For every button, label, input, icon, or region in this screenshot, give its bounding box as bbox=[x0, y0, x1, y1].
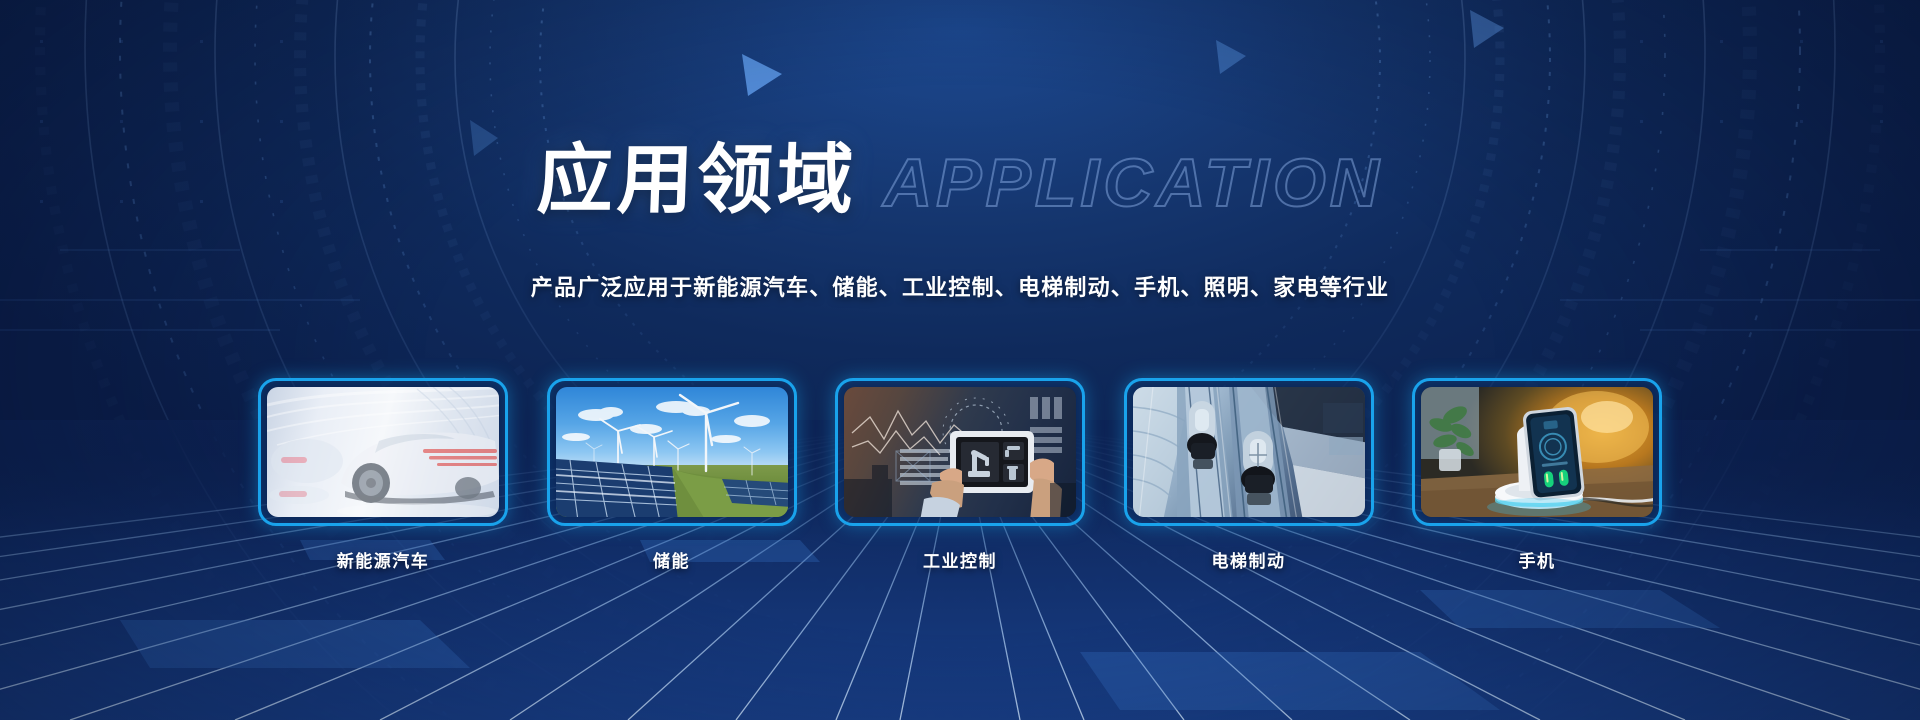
energy-storage-photo bbox=[556, 387, 788, 517]
card-label: 储能 bbox=[547, 547, 797, 572]
industrial-control-photo bbox=[844, 387, 1076, 517]
card-frame[interactable] bbox=[1124, 378, 1374, 526]
card-label: 电梯制动 bbox=[1124, 547, 1374, 572]
page-title-english: APPLICATION bbox=[883, 149, 1383, 217]
card-label: 手机 bbox=[1412, 547, 1662, 572]
page-title: 应用领域 bbox=[536, 142, 859, 218]
card-label: 新能源汽车 bbox=[258, 547, 508, 572]
card-frame[interactable] bbox=[1412, 378, 1662, 526]
card-frame[interactable] bbox=[547, 378, 797, 526]
application-card-mobile-phone[interactable]: 手机 bbox=[1412, 378, 1662, 572]
card-frame[interactable] bbox=[835, 378, 1085, 526]
card-label: 工业控制 bbox=[835, 547, 1085, 572]
title-row: 应用领域 APPLICATION bbox=[0, 142, 1920, 218]
elevator-brake-photo bbox=[1133, 387, 1365, 517]
application-card-industrial-control[interactable]: 工业控制 bbox=[835, 378, 1085, 572]
application-card-new-energy-vehicle[interactable]: 新能源汽车 bbox=[258, 378, 508, 572]
application-card-energy-storage[interactable]: 储能 bbox=[547, 378, 797, 572]
application-card-elevator-brake[interactable]: 电梯制动 bbox=[1124, 378, 1374, 572]
banner-subtitle: 产品广泛应用于新能源汽车、储能、工业控制、电梯制动、手机、照明、家电等行业 bbox=[0, 270, 1920, 302]
application-card-list: 新能源汽车 bbox=[258, 378, 1662, 578]
card-frame[interactable] bbox=[258, 378, 508, 526]
application-banner: 应用领域 APPLICATION 产品广泛应用于新能源汽车、储能、工业控制、电梯… bbox=[0, 0, 1920, 720]
new-energy-vehicle-photo bbox=[267, 387, 499, 517]
background-vignette bbox=[0, 0, 1920, 720]
mobile-phone-photo bbox=[1421, 387, 1653, 517]
